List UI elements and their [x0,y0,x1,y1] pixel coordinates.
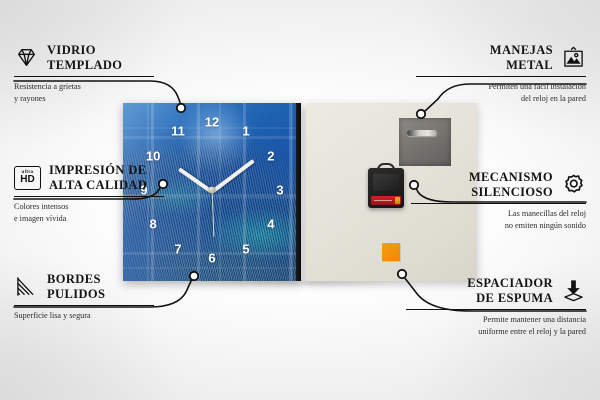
callout-espaciador-espuma: ESPACIADOR DE ESPUMA Permite mantener un… [406,276,586,337]
callout-title: VIDRIO TEMPLADO [47,43,122,73]
callout-description: Resistencia a grietas y rayones [14,81,154,104]
battery-label-line [374,200,392,202]
clock-numeral-11: 11 [171,125,185,138]
clock-numeral-5: 5 [242,242,249,255]
callout-rule [14,76,154,77]
battery [371,196,401,205]
callout-rule [14,305,154,306]
callout-description: Superficie lisa y segura [14,310,154,322]
callout-title: MECANISMO SILENCIOSO [469,170,553,200]
callout-title: ESPACIADOR DE ESPUMA [467,276,553,306]
clock-numeral-10: 10 [146,150,160,163]
movement-body [373,174,399,191]
gear-icon [561,172,586,197]
callout-title: IMPRESIÓN DE ALTA CALIDAD [49,163,147,193]
picture-hanger-icon [561,45,586,70]
diamond-icon [14,45,39,70]
clock-numeral-6: 6 [208,252,215,265]
callout-impresion-alta-calidad: ultra HD IMPRESIÓN DE ALTA CALIDAD Color… [14,163,164,224]
movement-hanger-loop [377,163,395,171]
infographic-stage: 121234567891011 [0,0,600,400]
foam-spacer [382,243,400,261]
callout-rule [406,309,586,310]
ultra-hd-icon-main-label: HD [20,175,34,185]
battery-terminal [395,197,400,204]
callout-description: Colores intensos e imagen vívida [14,201,164,224]
callout-bordes-pulidos: BORDES PULIDOS Superficie lisa y segura [14,272,154,322]
clock-numeral-3: 3 [276,184,283,197]
callout-mecanismo-silencioso: MECANISMO SILENCIOSO Las manecillas del … [411,170,586,231]
clock-numeral-2: 2 [267,150,274,163]
callout-title: BORDES PULIDOS [47,272,105,302]
clock-center-cap [209,187,216,194]
clock-numeral-1: 1 [242,125,249,138]
metal-hanger-plate [399,118,451,166]
ultra-hd-icon: ultra HD [14,166,41,190]
callout-rule [411,203,586,204]
foam-spacer-icon [561,278,586,303]
quartz-movement [368,168,404,208]
callout-rule [416,76,586,77]
callout-description: Permiten una fácil instalación del reloj… [416,81,586,104]
callout-rule [14,196,164,197]
callout-vidrio-templado: VIDRIO TEMPLADO Resistencia a grietas y … [14,43,154,104]
glass-panel-edge [296,103,301,281]
clock-numeral-4: 4 [267,218,274,231]
callout-title: MANEJAS METAL [490,43,553,73]
callout-description: Las manecillas del reloj no emiten ningú… [411,208,586,231]
polished-edge-icon [14,274,39,299]
callout-description: Permite mantener una distancia uniforme … [406,314,586,337]
clock-numeral-12: 12 [205,116,219,129]
clock-numeral-7: 7 [174,242,181,255]
callout-manejas-metal: MANEJAS METAL Permiten una fácil instala… [416,43,586,104]
hanger-slot [407,130,437,136]
